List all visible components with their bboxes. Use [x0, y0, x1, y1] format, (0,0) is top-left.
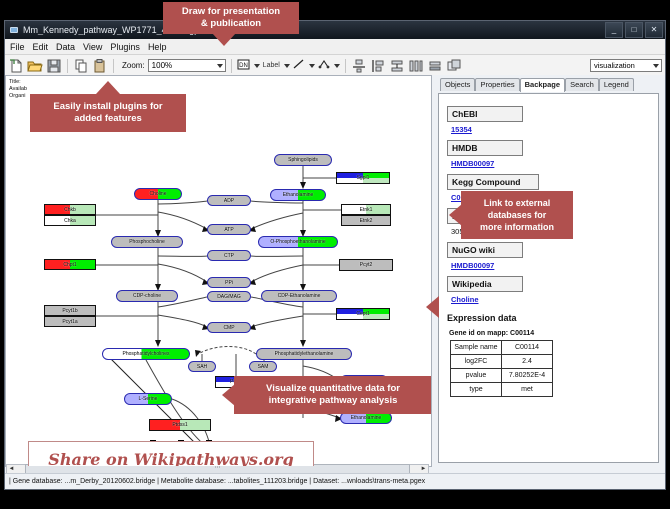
- title-bar: Mm_Kennedy_pathway_WP1771_45176.gpml _ □…: [5, 21, 665, 39]
- callout-plugins: Easily install plugins for added feature…: [30, 94, 186, 132]
- datanode-dropdown-icon[interactable]: [254, 64, 260, 68]
- metabolite-node-phosphocholine[interactable]: Phosphocholine: [111, 236, 183, 248]
- node-label: Sphingolipids: [288, 157, 318, 163]
- node-label: O-Phosphoethanolamine: [270, 239, 325, 245]
- toolbar-separator-4: [345, 59, 346, 73]
- scroll-left-arrow-icon[interactable]: ◄: [7, 466, 16, 472]
- gene-node-etnk1[interactable]: Etnk1: [341, 204, 391, 215]
- chevron-down-icon-viz[interactable]: [653, 64, 659, 68]
- callout-draw-text: Draw for presentation & publication: [182, 6, 280, 30]
- menu-item-edit[interactable]: Edit: [33, 42, 49, 52]
- menu-item-file[interactable]: File: [10, 42, 25, 52]
- gene-node-sgpl1[interactable]: Sgpl1: [336, 172, 390, 184]
- node-label: SAH: [197, 364, 207, 370]
- toolbar-separator-3: [231, 59, 232, 73]
- database-link-wikipedia[interactable]: Choline: [451, 295, 650, 304]
- gene-node-etnk2[interactable]: Etnk2: [341, 215, 391, 226]
- open-folder-icon[interactable]: [27, 58, 43, 74]
- node-label: SAM: [258, 364, 269, 370]
- gene-node-pcyt2[interactable]: Pcyt2: [339, 259, 393, 271]
- expression-table-value: met: [502, 383, 553, 397]
- node-label: Pcyt1b: [45, 308, 95, 314]
- metabolite-node-atp[interactable]: ATP: [207, 224, 251, 235]
- gene-node-chka[interactable]: Chka: [44, 215, 96, 226]
- callout-share: Share on Wikipathways.org: [28, 441, 314, 467]
- callout-links: Link to external databases for more info…: [461, 191, 573, 239]
- expression-table-value: 7.80252E-4: [502, 369, 553, 383]
- side-pane-tabs: Objects Properties Backpage Search Legen…: [434, 77, 665, 91]
- chevron-down-icon[interactable]: [217, 64, 223, 68]
- expression-table-key: pvalue: [451, 369, 502, 383]
- tab-legend[interactable]: Legend: [599, 78, 634, 91]
- node-label: Phosphatidylcholines: [123, 351, 170, 357]
- tab-backpage[interactable]: Backpage: [520, 78, 565, 92]
- distribute-vertical-icon[interactable]: [389, 58, 405, 74]
- close-button[interactable]: ✕: [645, 22, 663, 38]
- tool-bar: Zoom: 100% DN Label: [5, 55, 665, 77]
- screenshot-root: Mm_Kennedy_pathway_WP1771_45176.gpml _ □…: [0, 0, 670, 509]
- node-label: Chkb: [45, 207, 95, 213]
- node-label: Etnk2: [342, 218, 390, 224]
- expression-table-key: type: [451, 383, 502, 397]
- callout-links-arrow: [449, 204, 462, 226]
- node-label: CMP: [223, 325, 234, 331]
- metabolite-node-phosphatidylcholines[interactable]: Phosphatidylcholines: [102, 348, 190, 360]
- copy-icon[interactable]: [73, 58, 89, 74]
- table-row: typemet: [451, 383, 553, 397]
- visualization-combobox[interactable]: visualization: [590, 59, 662, 72]
- database-header-hmdb: HMDB: [447, 140, 523, 156]
- new-file-icon[interactable]: [8, 58, 24, 74]
- node-label: Chpt1: [45, 262, 95, 268]
- gene-node-pcyt1a[interactable]: Pcyt1a: [44, 316, 96, 327]
- pathway-canvas[interactable]: Title: Availab Organi: [5, 75, 432, 467]
- node-label: Pcyt2: [340, 262, 392, 268]
- database-link-nugo-wiki[interactable]: HMDB00097: [451, 261, 650, 270]
- status-text: | Gene database: ...m_Derby_20120602.bri…: [9, 478, 425, 485]
- toolbar-separator-2: [113, 59, 114, 73]
- metabolite-node-ethanolamine-top[interactable]: Ethanolamine: [270, 189, 326, 201]
- callout-plugins-text: Easily install plugins for added feature…: [53, 101, 162, 125]
- zoom-label: Zoom:: [122, 61, 145, 70]
- paste-icon[interactable]: [92, 58, 108, 74]
- metabolite-node-dag-mag[interactable]: DAG/MAG: [207, 291, 251, 302]
- metabolite-node-l-serine-left[interactable]: L-Serine: [124, 393, 172, 405]
- node-label: Sgpl1: [337, 175, 389, 181]
- order-icon[interactable]: [446, 58, 462, 74]
- pathvisio-window: Mm_Kennedy_pathway_WP1771_45176.gpml _ □…: [4, 20, 666, 490]
- save-icon[interactable]: [46, 58, 62, 74]
- database-header-chebi: ChEBI: [447, 106, 523, 122]
- database-link-chebi[interactable]: 15354: [451, 125, 650, 134]
- side-pane: Objects Properties Backpage Search Legen…: [432, 75, 665, 467]
- node-label: CDP-choline: [133, 293, 161, 299]
- status-bar: | Gene database: ...m_Derby_20120602.bri…: [5, 473, 665, 489]
- metabolite-node-sah[interactable]: SAH: [188, 361, 216, 372]
- gene-id-line: Gene id on mapp: C00114: [449, 330, 650, 337]
- expression-table: Sample nameC00114log2FC2.4pvalue7.80252E…: [450, 340, 553, 397]
- node-label: Phosphocholine: [129, 239, 165, 245]
- metabolite-node-sphingolipids[interactable]: Sphingolipids: [274, 154, 332, 166]
- app-icon: [9, 25, 19, 35]
- node-label: Ethanolamine: [283, 192, 314, 198]
- minimize-button[interactable]: _: [605, 22, 623, 38]
- gene-node-chkb[interactable]: Chkb: [44, 204, 96, 215]
- zoom-value: 100%: [152, 61, 172, 70]
- metabolite-node-cmp[interactable]: CMP: [207, 322, 251, 333]
- backpage-content: ChEBI15354HMDBHMDB00097Kegg CompoundC001…: [439, 94, 658, 403]
- metabolite-node-ctp[interactable]: CTP: [207, 250, 251, 261]
- node-label: PPi: [225, 280, 233, 286]
- shape-dropdown-icon[interactable]: [334, 64, 340, 68]
- node-label: Ptdss1: [150, 422, 210, 428]
- node-label: Phosphatidylethanolamine: [275, 351, 334, 357]
- callout-links-text: Link to external databases for more info…: [480, 197, 554, 233]
- visualization-value: visualization: [594, 61, 635, 70]
- toolbar-separator: [67, 59, 68, 73]
- callout-plugins-arrow: [96, 81, 120, 94]
- zoom-combobox[interactable]: 100%: [148, 59, 226, 72]
- node-label: L-Serine: [139, 396, 158, 402]
- node-label: CTP: [224, 253, 234, 259]
- node-label: ADP: [224, 198, 234, 204]
- callout-share-text: Share on Wikipathways.org: [48, 450, 293, 468]
- table-row: pvalue7.80252E-4: [451, 369, 553, 383]
- maximize-button[interactable]: □: [625, 22, 643, 38]
- database-header-wikipedia: Wikipedia: [447, 276, 523, 292]
- node-label: Chka: [45, 218, 95, 224]
- label-tool-label[interactable]: Label: [263, 62, 280, 69]
- expression-data-header: Expression data: [447, 313, 650, 323]
- menu-item-data[interactable]: Data: [56, 42, 75, 52]
- line-tool-icon[interactable]: [293, 58, 305, 74]
- node-label: Cept1: [337, 311, 389, 317]
- shape-tool-icon[interactable]: [318, 58, 330, 74]
- callout-visualize-text: Visualize quantitative data for integrat…: [266, 383, 400, 407]
- callout-draw: Draw for presentation & publication: [163, 2, 299, 34]
- gene-node-chpt1[interactable]: Chpt1: [44, 259, 96, 270]
- metabolite-node-cdp-ethanolamine[interactable]: CDP-Ethanolamine: [261, 290, 337, 302]
- line-dropdown-icon[interactable]: [309, 64, 315, 68]
- window-controls: _ □ ✕: [605, 22, 663, 38]
- node-label: Ethanolamine: [351, 415, 382, 421]
- tab-properties[interactable]: Properties: [475, 78, 519, 91]
- svg-text:DN: DN: [239, 63, 248, 69]
- expression-table-value: C00114: [502, 341, 553, 355]
- callout-visualize: Visualize quantitative data for integrat…: [234, 376, 432, 414]
- node-label: DAG/MAG: [217, 294, 241, 300]
- database-link-hmdb[interactable]: HMDB00097: [451, 159, 650, 168]
- node-label: Etnk1: [342, 207, 390, 213]
- gene-node-pcyt1b[interactable]: Pcyt1b: [44, 305, 96, 316]
- metabolite-node-sam[interactable]: SAM: [249, 361, 277, 372]
- node-label: Choline: [150, 191, 167, 197]
- menu-bar: File Edit Data View Plugins Help: [5, 39, 665, 55]
- table-row: Sample nameC00114: [451, 341, 553, 355]
- body-split: Title: Availab Organi: [5, 75, 665, 467]
- menu-item-help[interactable]: Help: [148, 42, 167, 52]
- table-row: log2FC2.4: [451, 355, 553, 369]
- stack-icon[interactable]: [427, 58, 443, 74]
- distribute-horizontal-icon[interactable]: [408, 58, 424, 74]
- callout-draw-arrow: [212, 33, 236, 46]
- metabolite-node-cdp-choline[interactable]: CDP-choline: [116, 290, 178, 302]
- database-header-kegg-compound: Kegg Compound: [447, 174, 539, 190]
- callout-visualize-arrow: [222, 384, 235, 406]
- tab-search[interactable]: Search: [565, 78, 599, 91]
- expression-table-key: Sample name: [451, 341, 502, 355]
- metabolite-node-o-phosphoethanolamine[interactable]: O-Phosphoethanolamine: [258, 236, 338, 248]
- node-label: ATP: [224, 227, 233, 233]
- expression-table-value: 2.4: [502, 355, 553, 369]
- database-header-nugo-wiki: NuGO wiki: [447, 242, 523, 258]
- node-label: CDP-Ethanolamine: [278, 293, 321, 299]
- node-label: Pcyt1a: [45, 319, 95, 325]
- metabolite-node-adp[interactable]: ADP: [207, 195, 251, 206]
- metabolite-node-ppi[interactable]: PPi: [207, 277, 251, 288]
- gene-node-cept1[interactable]: Cept1: [336, 308, 390, 320]
- align-left-icon[interactable]: [370, 58, 386, 74]
- metabolite-node-phosphatidylethanolamine[interactable]: Phosphatidylethanolamine: [256, 348, 352, 360]
- menu-item-plugins[interactable]: Plugins: [110, 42, 140, 52]
- align-center-icon[interactable]: [351, 58, 367, 74]
- tab-objects[interactable]: Objects: [440, 78, 475, 91]
- gene-node-ptdss1[interactable]: Ptdss1: [149, 419, 211, 431]
- expression-table-key: log2FC: [451, 355, 502, 369]
- scroll-right-arrow-icon[interactable]: ►: [419, 466, 428, 472]
- callout-links-arrow-2: [426, 296, 439, 318]
- menu-item-view[interactable]: View: [83, 42, 102, 52]
- metabolite-node-choline-top[interactable]: Choline: [134, 188, 182, 200]
- datanode-icon[interactable]: DN: [237, 58, 250, 74]
- backpage-panel: ChEBI15354HMDBHMDB00097Kegg CompoundC001…: [438, 93, 659, 463]
- label-dropdown-icon[interactable]: [284, 64, 290, 68]
